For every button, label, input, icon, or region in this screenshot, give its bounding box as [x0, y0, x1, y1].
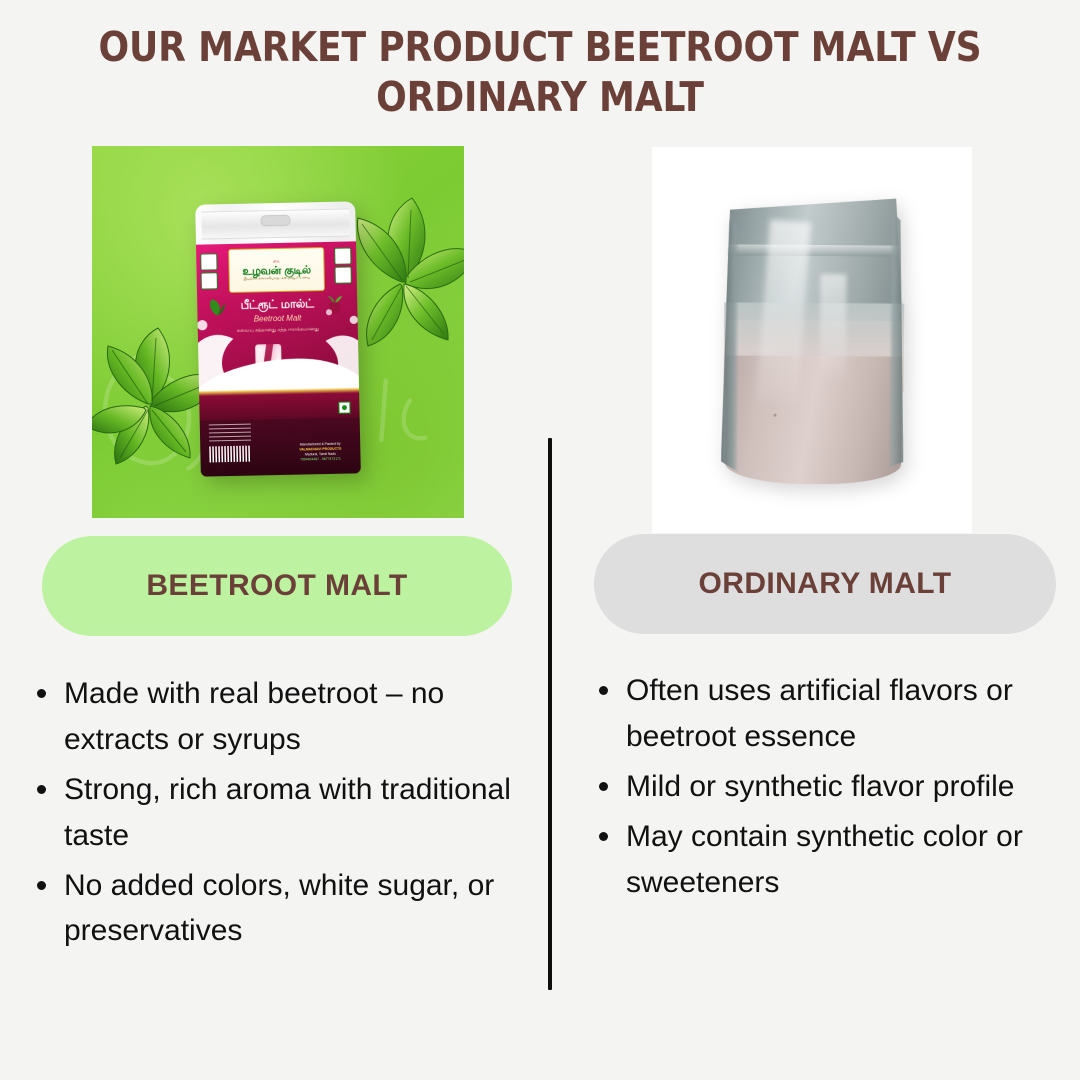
feature-list-beetroot-malt: Made with real beetroot – no extracts or… [28, 671, 538, 958]
list-item: Strong, rich aroma with traditional tast… [28, 767, 538, 859]
pouch-seal [728, 244, 901, 257]
ordinary-malt-pouch-photo [652, 147, 972, 533]
list-item: May contain synthetic color or sweetener… [590, 814, 1068, 906]
brand-subtitle-tamil: இயற்கை விளைபொருட்கள் மற்றும் உணவு [244, 276, 310, 281]
pouch-footer-panel: Manufactured & Packed by VALMADHAVI PROD… [200, 418, 361, 477]
ordinary-malt-pouch [717, 197, 907, 490]
nutrition-table [209, 424, 251, 445]
list-item: Mild or synthetic flavor profile [590, 764, 1068, 810]
label-beetroot-malt: BEETROOT MALT [42, 536, 512, 636]
feature-list-ordinary-malt: Often uses artificial flavors or beetroo… [590, 668, 1068, 909]
manufacturer-phone: 7994494487 - 9677472171 [287, 457, 353, 463]
pouch-highlight [819, 274, 846, 385]
brand-plate: திரு உழவன் குடில் இயற்கை விளைபொருட்கள் ம… [228, 247, 325, 293]
pouch-powder-fill [725, 355, 903, 485]
list-item: No added colors, white sugar, or preserv… [28, 863, 538, 955]
manufacturer-info: Manufactured & Packed by VALMADHAVI PROD… [287, 441, 353, 463]
certification-icon [201, 273, 218, 290]
certification-icon [335, 267, 352, 284]
pouch-body: திரு உழவன் குடில் இயற்கை விளைபொருட்கள் ம… [195, 202, 361, 477]
pouch-label: திரு உழவன் குடில் இயற்கை விளைபொருட்கள் ம… [196, 242, 361, 477]
page-title-container: OUR MARKET PRODUCT BEETROOT MALT VS ORDI… [0, 22, 1080, 122]
list-item: Often uses artificial flavors or beetroo… [590, 668, 1068, 760]
label-ordinary-malt-text: ORDINARY MALT [699, 567, 952, 601]
barcode [209, 446, 251, 463]
vegetarian-mark-icon [338, 402, 350, 414]
pouch-hang-hole [260, 215, 290, 227]
certification-icon [334, 248, 351, 265]
beetroot-malt-pouch: திரு உழவன் குடில் இயற்கை விளைபொருட்கள் ம… [195, 202, 361, 477]
column-divider [548, 438, 552, 990]
certification-icon [200, 254, 217, 271]
beetroot-malt-pouch-photo: திரு உழவன் குடில் இயற்கை விளைபொருட்கள் ம… [92, 146, 464, 518]
page-title: OUR MARKET PRODUCT BEETROOT MALT VS ORDI… [65, 22, 1015, 122]
list-item: Made with real beetroot – no extracts or… [28, 671, 538, 763]
label-beetroot-malt-text: BEETROOT MALT [146, 569, 407, 603]
label-ordinary-malt: ORDINARY MALT [594, 534, 1056, 634]
